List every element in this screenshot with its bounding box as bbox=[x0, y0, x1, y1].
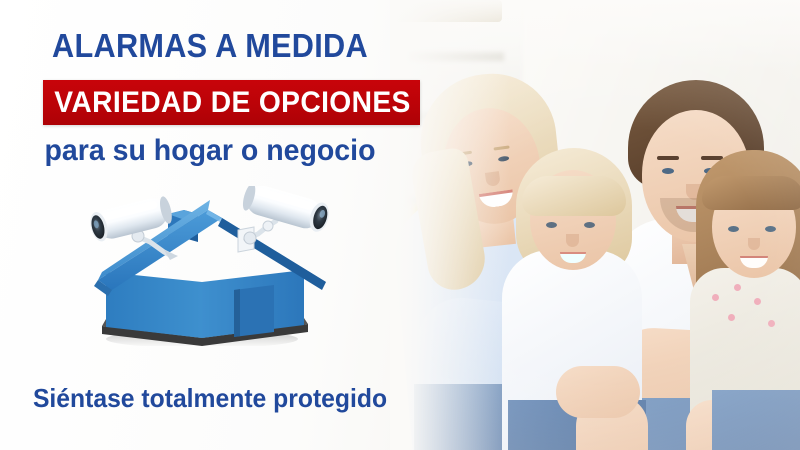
house-door-jamb bbox=[234, 289, 240, 337]
highlight-banner: VARIEDAD DE OPCIONES bbox=[43, 80, 420, 125]
headline-text: ALARMAS A MEDIDA bbox=[15, 27, 406, 65]
camera-left bbox=[88, 194, 178, 260]
tagline-text: Siéntase totalmente protegido bbox=[11, 382, 410, 414]
highlight-text: VARIEDAD DE OPCIONES bbox=[54, 80, 408, 125]
house-with-cameras-illustration bbox=[72, 186, 332, 346]
camera-right-swivel bbox=[263, 221, 273, 231]
promotional-banner: ALARMAS A MEDIDA VARIEDAD DE OPCIONES pa… bbox=[0, 0, 800, 450]
family-photo bbox=[390, 0, 800, 450]
camera-right-joint bbox=[244, 232, 256, 244]
subheadline-text: para su hogar o negocio bbox=[11, 133, 410, 169]
camera-right bbox=[240, 186, 332, 244]
